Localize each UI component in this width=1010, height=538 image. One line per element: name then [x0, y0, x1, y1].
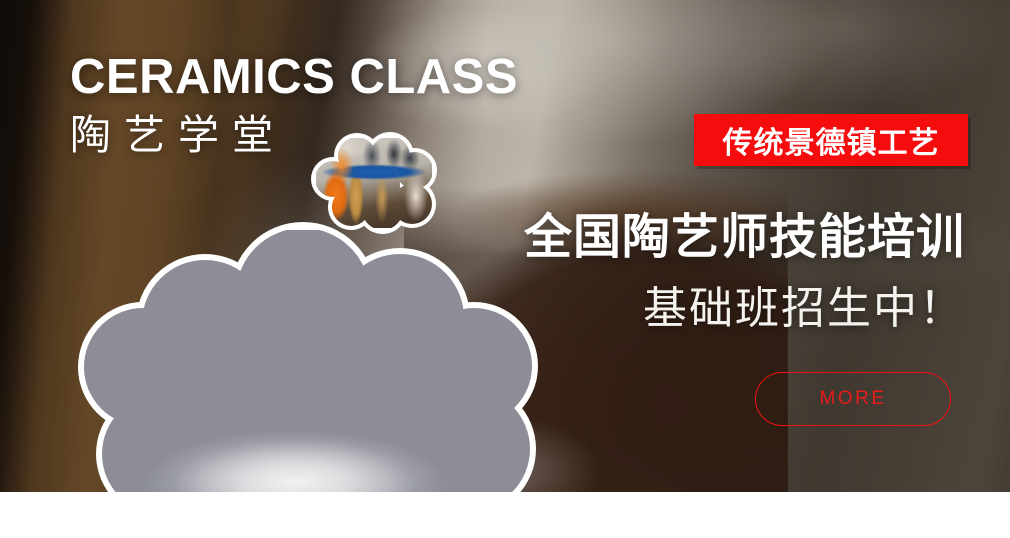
studio-shelf-photo	[316, 138, 432, 228]
pottery-wheel-photo	[80, 230, 535, 492]
headline-primary: 全国陶艺师技能培训	[524, 197, 965, 267]
page-title-english: CERAMICS CLASS	[70, 52, 518, 103]
hero-banner: CERAMICS CLASS 陶艺学堂 传统景德镇工艺 全国陶艺师技能培训 基础…	[0, 0, 1010, 492]
page-title-chinese: 陶艺学堂	[70, 112, 286, 159]
page-white-strip	[0, 492, 1010, 538]
more-button-label: MORE	[820, 388, 887, 410]
cloud-photo-main	[80, 230, 535, 492]
status-badge: 传统景德镇工艺	[694, 114, 968, 166]
more-button[interactable]: MORE	[755, 372, 951, 426]
headline-secondary: 基础班招生中！	[643, 272, 965, 336]
status-badge-label: 传统景德镇工艺	[723, 118, 940, 162]
cloud-photo-small	[316, 138, 432, 228]
